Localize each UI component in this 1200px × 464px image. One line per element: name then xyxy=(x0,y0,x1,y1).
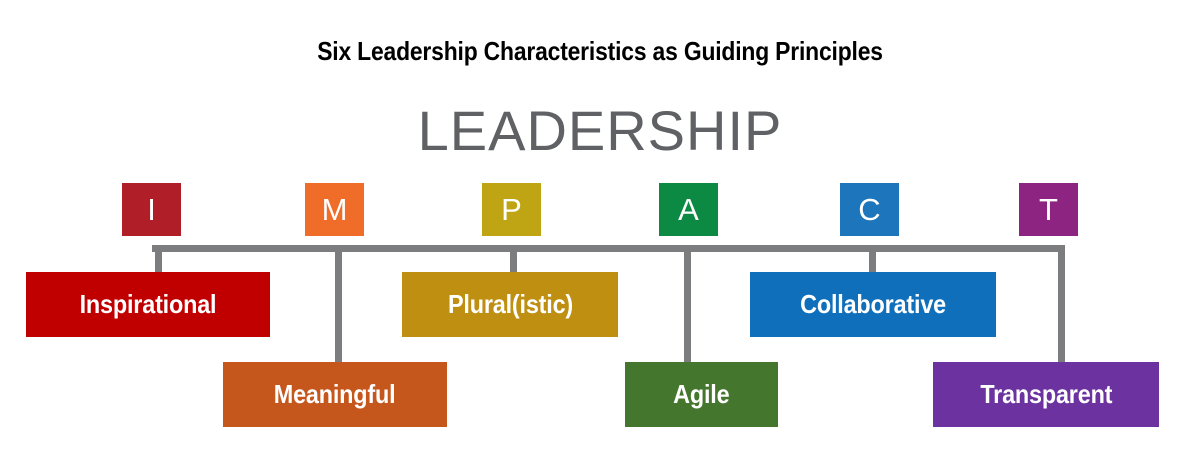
leadership-wordmark: LEADERSHIP xyxy=(0,98,1200,163)
characteristic-label: Meaningful xyxy=(274,379,396,410)
characteristic-label: Plural(istic) xyxy=(447,289,572,320)
acronym-tile-i: I xyxy=(122,183,181,236)
acronym-tile-letter: P xyxy=(501,194,522,225)
characteristic-label: Agile xyxy=(673,379,729,410)
characteristic-box-meaningful: Meaningful xyxy=(223,362,447,427)
acronym-tile-letter: I xyxy=(147,194,156,225)
page-title: Six Leadership Characteristics as Guidin… xyxy=(72,36,1128,67)
acronym-tile-t: T xyxy=(1019,183,1078,236)
acronym-tile-letter: T xyxy=(1039,194,1058,225)
connector-rail xyxy=(152,245,1065,252)
connector-stem-meaningful xyxy=(335,245,342,365)
acronym-tile-letter: C xyxy=(858,194,880,225)
acronym-tile-m: M xyxy=(305,183,364,236)
acronym-tile-a: A xyxy=(659,183,718,236)
leadership-impact-diagram: Six Leadership Characteristics as Guidin… xyxy=(0,0,1200,464)
acronym-tile-p: P xyxy=(482,183,541,236)
characteristic-box-collaborative: Collaborative xyxy=(750,272,996,337)
characteristic-label: Transparent xyxy=(980,379,1112,410)
connector-stem-agile xyxy=(684,245,691,365)
connector-stem-plural-istic xyxy=(510,245,517,275)
connector-stem-collaborative xyxy=(869,245,876,275)
acronym-tile-letter: M xyxy=(322,194,348,225)
characteristic-label: Inspirational xyxy=(80,289,217,320)
characteristic-box-inspirational: Inspirational xyxy=(26,272,270,337)
characteristic-label: Collaborative xyxy=(800,289,946,320)
acronym-tile-c: C xyxy=(840,183,899,236)
characteristic-box-transparent: Transparent xyxy=(933,362,1159,427)
connector-stem-transparent xyxy=(1058,245,1065,365)
connector-stem-inspirational xyxy=(155,245,162,275)
characteristic-box-agile: Agile xyxy=(625,362,778,427)
characteristic-box-plural-istic: Plural(istic) xyxy=(402,272,618,337)
acronym-tile-letter: A xyxy=(678,194,699,225)
